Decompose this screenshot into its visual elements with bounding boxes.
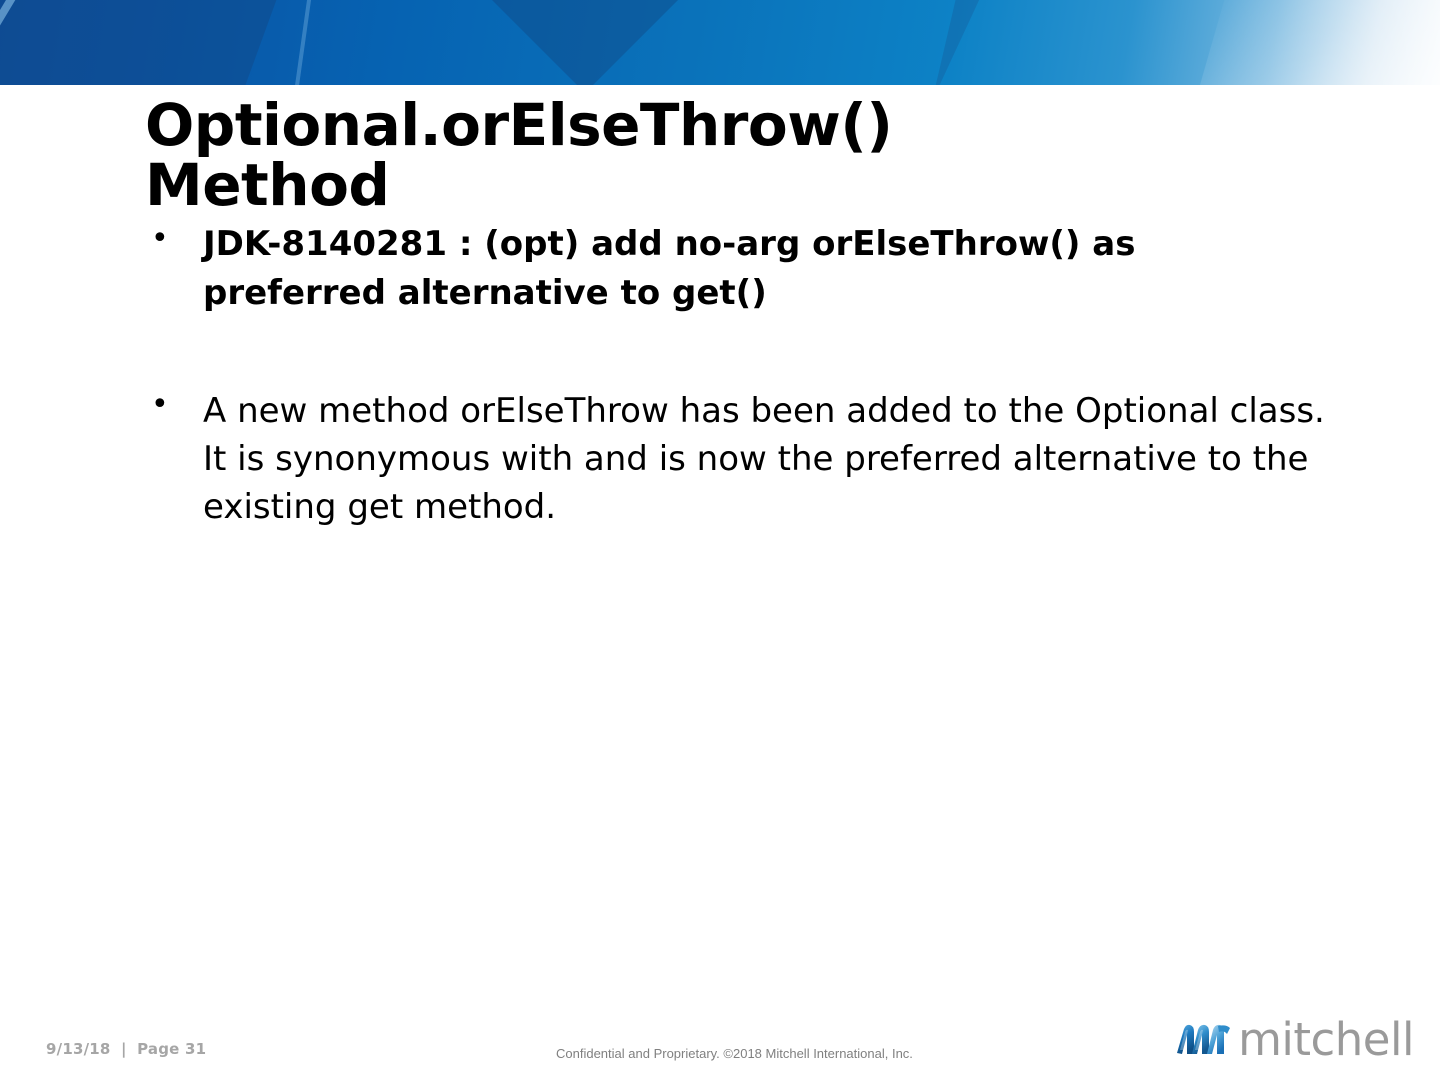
slide-title: Optional.orElseThrow() Method — [145, 96, 1265, 215]
footer-separator: | — [116, 1040, 132, 1058]
bullet-item-2: • A new method orElseThrow has been adde… — [145, 387, 1325, 532]
bullet-marker-icon: • — [151, 224, 169, 254]
footer-meta: 9/13/18 | Page 31 — [46, 1040, 206, 1058]
bullet-item-1: • JDK-8140281 : (opt) add no-arg orElseT… — [145, 220, 1325, 319]
slide-body: • JDK-8140281 : (opt) add no-arg orElseT… — [145, 220, 1325, 531]
mitchell-logo: mitchell — [1174, 1015, 1414, 1067]
bullet-text-1: JDK-8140281 : (opt) add no-arg orElseThr… — [203, 220, 1325, 319]
footer-date: 9/13/18 — [46, 1040, 111, 1058]
banner-band-mid-icon — [292, 0, 313, 85]
bullet-marker-icon: • — [151, 390, 169, 420]
footer-confidentiality-notice: Confidential and Proprietary. ©2018 Mitc… — [556, 1046, 913, 1061]
bullet-text-2: A new method orElseThrow has been added … — [203, 387, 1325, 532]
slide-header-banner — [0, 0, 1440, 85]
banner-fade-right-icon — [1187, 0, 1440, 85]
banner-sliver-right-icon — [919, 0, 989, 85]
mitchell-m-ribbon-icon — [1174, 1020, 1236, 1062]
footer-page-number: Page 31 — [137, 1040, 206, 1058]
banner-triangle-center-icon — [490, 0, 680, 85]
mitchell-wordmark: mitchell — [1238, 1017, 1414, 1062]
banner-wedge-left-icon — [0, 0, 280, 85]
